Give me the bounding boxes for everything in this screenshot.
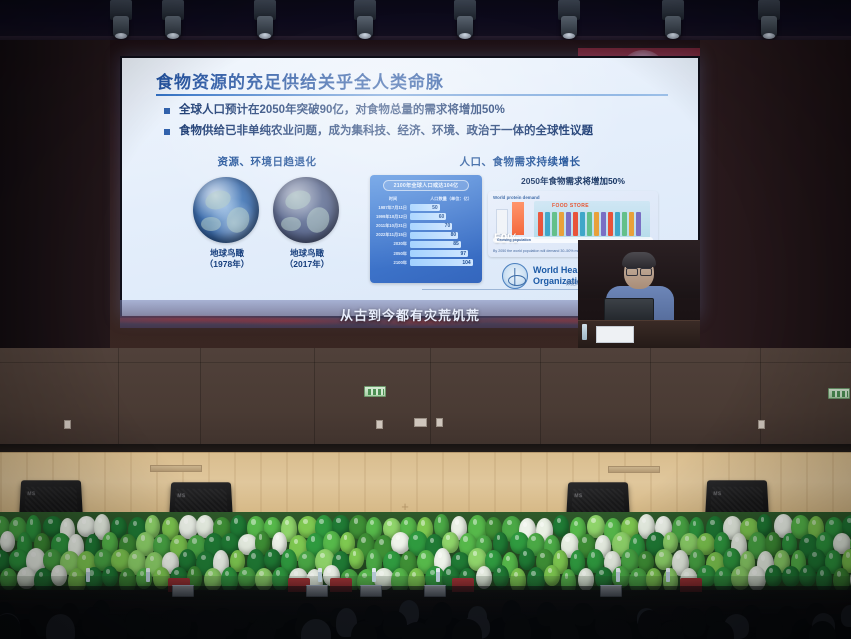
infographic-small-label: World protein demand [493,195,540,201]
speaker-podium [578,240,700,348]
earth-caption: 地球鸟瞰 （2017年） [273,248,341,270]
wall-panel-line [0,362,851,363]
population-bar-chart: 2100年全球人口或达104亿 时间 人口数量（单位：亿） 1987年7月11日… [370,175,482,283]
exit-sign-icon [828,388,850,399]
earth-caption: 地球鸟瞰 （1978年） [193,248,261,270]
chart-bar-fill: 85 [410,241,461,248]
exit-sign-icon [364,386,386,397]
shelf-item [559,212,564,236]
chart-bar-value: 70 [445,223,451,229]
earth-globe-icon [273,177,339,243]
stage-light-icon [556,0,582,40]
floor-vent [608,466,660,473]
audience-member [756,614,783,639]
stage-light-icon [108,0,134,40]
chart-column-headers: 时间 人口数量（单位：亿） [374,196,478,202]
floor-edge [0,452,851,453]
audience-member [98,614,127,639]
chart-bar-row: 1987年7月11日50 [374,204,478,211]
shelf-item [636,212,641,236]
wall-outlet-plate [376,420,383,429]
earth-caption-line1: 地球鸟瞰 [273,248,341,259]
infographic-heading: 2050年食物需求将增加50% [488,175,658,187]
shelf-item [594,212,599,236]
chart-bar-label: 2030年 [376,241,410,247]
shelf-item [629,212,634,236]
earth-figure-2017: 地球鸟瞰 （2017年） [273,177,341,270]
audience-member [144,617,170,639]
speaker-hair [622,252,656,267]
chart-bar-value: 85 [453,241,459,247]
stage-light-icon [352,0,378,40]
audience-member [841,605,851,627]
wall-outlet-plate [758,420,765,429]
chart-bar-value: 60 [439,214,445,220]
chart-bar-label: 2050年 [376,251,410,257]
lower-wall-panels [0,348,851,454]
right-column-heading: 人口、食物需求持续增长 [370,154,670,169]
podium-laptop [604,298,654,322]
earth-figure-1978: 地球鸟瞰 （1978年） [193,177,261,270]
water-bottle [666,568,670,582]
shelf-item [587,212,592,236]
stage-light-icon [756,0,782,40]
audience-member [605,619,632,639]
shelf-item [615,212,620,236]
left-column-heading: 资源、环境日趋退化 [182,154,352,169]
back-wall-right-shadow [700,40,851,360]
stage-light-icon [452,0,478,40]
store-shelf-items [538,212,641,236]
audience-member [682,608,706,637]
chart-bar-row: 1999年10月12日60 [374,213,478,220]
chart-bar-track: 50 [410,204,476,211]
chart-bar-fill: 104 [410,259,473,266]
chart-bar-track: 97 [410,250,476,257]
chart-bar-value: 104 [462,260,470,266]
title-divider [156,94,668,96]
glasses-icon [626,267,652,273]
chart-bar-label: 1999年10月12日 [376,214,410,220]
chart-bar-fill: 60 [410,213,446,220]
chart-bar-track: 85 [410,241,476,248]
name-card [596,326,634,343]
slide-bullet-list: 全球人口预计在2050年突破90亿，对食物总量的需求将增加50% 食物供给已非单… [164,103,684,146]
earth-image-pair: 地球鸟瞰 （1978年） 地球鸟瞰 （2017年） [182,177,352,270]
bullet-text: 全球人口预计在2050年突破90亿，对食物总量的需求将增加50% [179,103,505,117]
chart-bar-label: 2011年10月31日 [376,223,410,229]
shelf-item [608,212,613,236]
water-bottle [582,324,587,340]
chart-bar-fill: 97 [410,250,468,257]
wall-switch-plate [436,418,443,427]
list-item: 全球人口预计在2050年突破90亿，对食物总量的需求将增加50% [164,103,684,117]
chart-bar-row: 2050年97 [374,250,478,257]
water-bottle [318,568,322,582]
shelf-item [545,212,550,236]
chart-bar-fill: 70 [410,223,452,230]
chart-bars: 1987年7月11日501999年10月12日602011年10月31日7020… [374,204,478,266]
chart-bar-track: 80 [410,232,476,239]
chart-title: 2100年全球人口或达104亿 [383,180,469,191]
chart-col-header-value: 人口数量（单位：亿） [410,196,476,202]
chart-bar-track: 60 [410,213,476,220]
wall-switch-plate [414,418,427,427]
shelf-item [622,212,627,236]
water-bottle [86,568,90,582]
wall-outlet-plate [64,420,71,429]
earth-caption-line2: （2017年） [273,259,341,270]
slide-title: 食物资源的充足供给关乎全人类命脉 [156,68,444,93]
bullet-square-icon [164,129,170,135]
slide-left-column: 资源、环境日趋退化 地球鸟瞰 （1978年） [182,154,352,270]
balloon [349,548,364,569]
shelf-item [601,212,606,236]
chart-bar-value: 97 [461,251,467,257]
chart-bar-row: 2011年10月31日70 [374,223,478,230]
balloon [655,549,673,570]
chart-bar-value: 80 [451,232,457,238]
list-item: 食物供给已非单纯农业问题，成为集科技、经济、环境、政治于一体的全球性议题 [164,124,684,138]
chart-bar-track: 104 [410,259,476,266]
earth-caption-line1: 地球鸟瞰 [193,248,261,259]
shelf-item [580,212,585,236]
audience-silhouettes [0,586,851,639]
shelf-item [573,212,578,236]
chart-bar-label: 2022年11月15日 [376,232,410,238]
audience-member [46,614,75,639]
chart-bar-row: 2022年11月15日80 [374,232,478,239]
floor-vent [150,465,202,472]
bullet-square-icon [164,108,170,114]
stage-light-icon [660,0,686,40]
shelf-item [552,212,557,236]
stage-light-icon [160,0,186,40]
chart-bar-row: 2100年104 [374,259,478,266]
chart-bar-label: 1987年7月11日 [376,205,410,211]
audience-member [197,616,226,639]
chart-bar-fill: 80 [410,232,458,239]
chart-bar-track: 70 [410,223,476,230]
chart-bar-row: 2030年85 [374,241,478,248]
shelf-item [566,212,571,236]
audience-member [167,608,191,637]
water-bottle [616,568,620,582]
earth-globe-icon [193,177,259,243]
water-bottle [436,568,440,582]
auditorium-photo: 大思政课 食物资源的充足供给关乎全人类命脉 全球人口预计在2050年突破90亿，… [0,0,851,639]
chart-bar-label: 2100年 [376,260,410,266]
earth-caption-line2: （1978年） [193,259,261,270]
water-bottle [146,568,150,582]
chart-col-header-time: 时间 [376,196,410,202]
audience-member [572,603,594,626]
bullet-text: 食物供给已非单纯农业问题，成为集科技、经济、环境、政治于一体的全球性议题 [179,124,593,138]
water-bottle [372,568,376,582]
chart-bar-value: 50 [432,205,438,211]
store-sign-text: FOOD STORE [552,203,589,209]
chart-bar-fill: 50 [410,204,440,211]
shelf-item [538,212,543,236]
balloon [0,531,15,552]
stage-light-icon [252,0,278,40]
infographic-store-illustration: FOOD STORE [534,201,650,239]
back-wall-left-shadow [0,40,110,360]
